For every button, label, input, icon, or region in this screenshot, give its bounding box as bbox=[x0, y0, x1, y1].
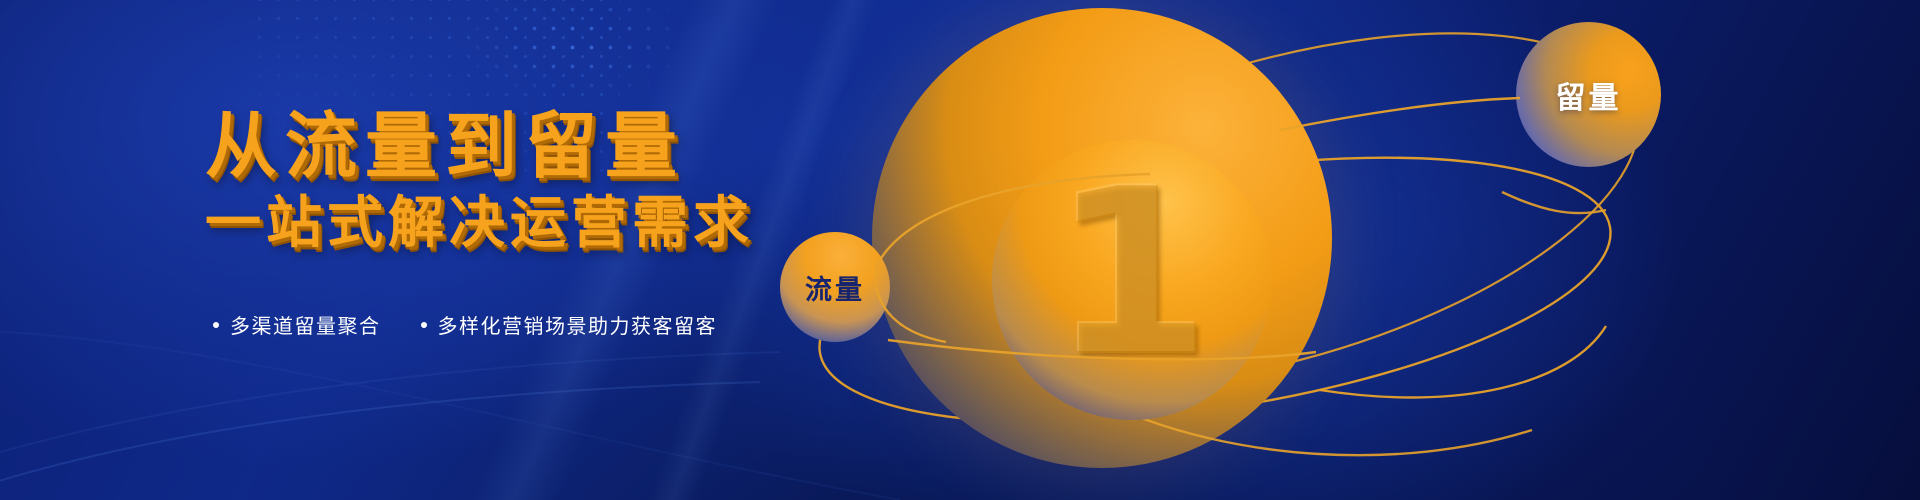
sphere-illustration: 1 流量 留量 bbox=[760, 0, 1920, 500]
badge-traffic-label: 流量 bbox=[805, 268, 865, 307]
bullet-dot-icon bbox=[213, 322, 219, 328]
list-item: 多样化营销场景助力获客留客 bbox=[421, 310, 718, 339]
badge-retention-label: 留量 bbox=[1556, 73, 1622, 117]
list-item: 多渠道留量聚合 bbox=[213, 310, 381, 339]
promo-banner: 从流量到留量 一站式解决运营需求 多渠道留量聚合 多样化营销场景助力获客留客 bbox=[0, 0, 1920, 500]
numeral-one: 1 bbox=[992, 140, 1272, 420]
badge-retention: 留量 bbox=[1516, 22, 1661, 167]
bullet-dot-icon bbox=[421, 322, 427, 328]
badge-traffic: 流量 bbox=[780, 232, 890, 342]
bullet-label: 多渠道留量聚合 bbox=[230, 310, 381, 339]
dot-grid-pattern-dense-icon bbox=[430, 0, 670, 120]
bullet-label: 多样化营销场景助力获客留客 bbox=[438, 310, 718, 339]
numeral-sphere: 1 bbox=[992, 140, 1272, 420]
